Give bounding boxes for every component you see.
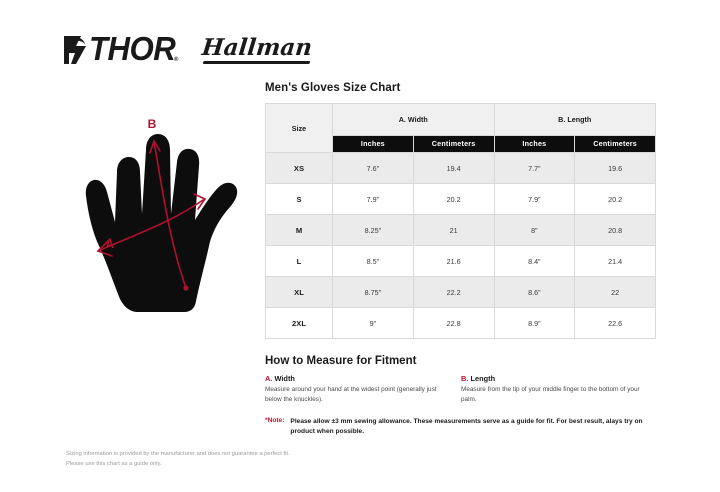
cell-width-centimeters: 22.2 (413, 277, 494, 308)
thor-bolt-icon (62, 34, 88, 66)
note-label: *Note: (265, 417, 284, 438)
cell-length-centimeters: 20.8 (575, 215, 656, 246)
table-row: 2XL 9” 22.8 8.9” 22.6 (266, 308, 656, 339)
page-title: Men's Gloves Size Chart (265, 82, 657, 94)
thor-logo: THOR ® (62, 34, 178, 66)
table-row: L 8.5” 21.6 8.4” 21.4 (266, 246, 656, 277)
cell-length-inches: 8.9” (494, 308, 575, 339)
footer-line-2: Please use this chart as a guide only. (66, 460, 290, 470)
note-text: Please allow ±3 mm sewing allowance. The… (290, 417, 648, 438)
brand-logo-row: THOR ® Hallman (62, 30, 313, 70)
hallman-logo: Hallman (202, 36, 312, 65)
cell-width-centimeters: 20.2 (413, 184, 494, 215)
cell-length-inches: 8.6” (494, 277, 575, 308)
cell-width-inches: 8.75” (333, 277, 414, 308)
measure-width-block: A. Width Measure around your hand at the… (265, 374, 461, 405)
measure-width-heading: A. Width (265, 374, 451, 383)
cell-width-inches: 9” (333, 308, 414, 339)
cell-width-centimeters: 22.8 (413, 308, 494, 339)
hallman-underline-swash (203, 61, 311, 64)
cell-length-inches: 7.7” (494, 153, 575, 184)
header-size: Size (266, 104, 333, 153)
cell-length-inches: 8” (494, 215, 575, 246)
table-row: S 7.9” 20.2 7.9” 20.2 (266, 184, 656, 215)
header-width-centimeters: Centimeters (413, 135, 494, 153)
measure-length-label: Length (470, 374, 495, 383)
cell-size: XS (266, 153, 333, 184)
table-header-row-groups: Size A. Width B. Length (266, 104, 656, 136)
table-body: XS 7.6” 19.4 7.7” 19.6 S 7.9” 20.2 7.9” … (266, 153, 656, 339)
cell-length-centimeters: 21.4 (575, 246, 656, 277)
measure-length-block: B. Length Measure from the tip of your m… (461, 374, 657, 405)
measure-width-letter: A. (265, 374, 272, 383)
header-width-inches: Inches (333, 135, 414, 153)
cell-width-inches: 8.5” (333, 246, 414, 277)
header-length-inches: Inches (494, 135, 575, 153)
cell-width-centimeters: 21.6 (413, 246, 494, 277)
cell-size: 2XL (266, 308, 333, 339)
table-row: XL 8.75” 22.2 8.6” 22 (266, 277, 656, 308)
measure-width-text: Measure around your hand at the widest p… (265, 385, 451, 405)
cell-size: L (266, 246, 333, 277)
note-block: *Note: Please allow ±3 mm sewing allowan… (265, 417, 657, 438)
measure-length-heading: B. Length (461, 374, 647, 383)
chart-content: Men's Gloves Size Chart Size A. Width B.… (265, 82, 657, 438)
diagram-label-a: A (105, 237, 114, 251)
hand-measurement-diagram: A B (72, 96, 262, 316)
cell-size: XL (266, 277, 333, 308)
cell-width-inches: 7.9” (333, 184, 414, 215)
cell-width-inches: 7.6” (333, 153, 414, 184)
footer-line-1: Sizing information is provided by the ma… (66, 450, 290, 460)
measure-length-letter: B. (461, 374, 468, 383)
cell-length-centimeters: 22 (575, 277, 656, 308)
cell-width-centimeters: 21 (413, 215, 494, 246)
header-group-width: A. Width (333, 104, 495, 136)
header-length-centimeters: Centimeters (575, 135, 656, 153)
length-arrow-end-dot (183, 285, 188, 290)
cell-length-inches: 7.9” (494, 184, 575, 215)
cell-length-centimeters: 20.2 (575, 184, 656, 215)
size-chart-table: Size A. Width B. Length Inches Centimete… (265, 103, 656, 339)
cell-width-inches: 8.25” (333, 215, 414, 246)
cell-length-inches: 8.4” (494, 246, 575, 277)
footer-disclaimer: Sizing information is provided by the ma… (66, 450, 290, 470)
measure-length-text: Measure from the tip of your middle fing… (461, 385, 647, 405)
cell-size: S (266, 184, 333, 215)
thor-wordmark: THOR (89, 33, 175, 67)
header-group-length: B. Length (494, 104, 656, 136)
cell-length-centimeters: 19.6 (575, 153, 656, 184)
cell-size: M (266, 215, 333, 246)
table-header: Size A. Width B. Length Inches Centimete… (266, 104, 656, 153)
cell-length-centimeters: 22.6 (575, 308, 656, 339)
table-row: M 8.25” 21 8” 20.8 (266, 215, 656, 246)
hallman-wordmark: Hallman (201, 36, 313, 59)
measure-width-label: Width (274, 374, 294, 383)
how-to-measure-columns: A. Width Measure around your hand at the… (265, 374, 657, 405)
how-to-measure-title: How to Measure for Fitment (265, 355, 657, 367)
cell-width-centimeters: 19.4 (413, 153, 494, 184)
table-row: XS 7.6” 19.4 7.7” 19.6 (266, 153, 656, 184)
diagram-label-b: B (148, 117, 157, 131)
